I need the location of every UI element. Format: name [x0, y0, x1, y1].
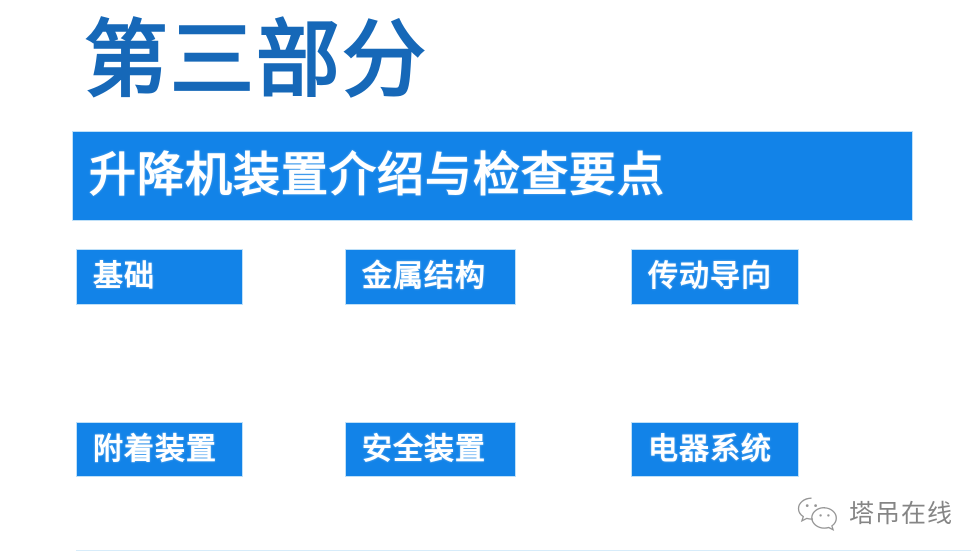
slide-canvas: 第三部分 升降机装置介绍与检查要点 基础 金属结构 传动导向 附着装置 安全装置… — [0, 0, 971, 557]
topic-chip-transmission-guide[interactable]: 传动导向 — [632, 250, 798, 304]
page-title: 第三部分 — [84, 12, 428, 108]
topic-chip-metal-structure[interactable]: 金属结构 — [346, 250, 515, 304]
topic-chip-attachment-device[interactable]: 附着装置 — [77, 423, 242, 476]
topic-chip-label: 金属结构 — [346, 260, 486, 294]
wechat-icon — [795, 495, 841, 533]
topic-chip-label: 附着装置 — [77, 433, 217, 467]
watermark-label: 塔吊在线 — [849, 500, 953, 528]
headline-text: 升降机装置介绍与检查要点 — [89, 150, 665, 202]
watermark: 塔吊在线 — [795, 495, 953, 533]
bottom-divider — [76, 550, 971, 551]
topic-chip-label: 安全装置 — [346, 433, 486, 467]
topic-chip-label: 基础 — [77, 260, 155, 294]
topic-chip-safety-device[interactable]: 安全装置 — [346, 423, 515, 476]
topic-chip-label: 电器系统 — [632, 433, 772, 467]
topic-chip-foundation[interactable]: 基础 — [77, 250, 242, 304]
headline-banner: 升降机装置介绍与检查要点 — [73, 132, 912, 220]
topic-chip-electrical-system[interactable]: 电器系统 — [632, 423, 798, 476]
topic-chip-label: 传动导向 — [632, 260, 772, 294]
